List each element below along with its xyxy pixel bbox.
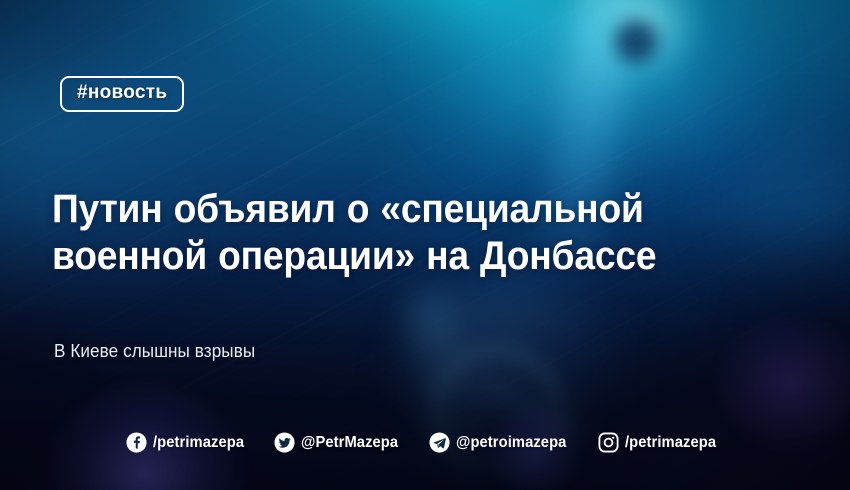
social-link-instagram[interactable]: /petrimazepa [598, 432, 724, 453]
facebook-icon [126, 432, 147, 453]
card-content: #новость Путин объявил о «специальной во… [0, 0, 850, 490]
instagram-icon [598, 432, 619, 453]
category-badge[interactable]: #новость [60, 76, 184, 112]
telegram-icon [429, 432, 450, 453]
social-handle-instagram: /petrimazepa [625, 434, 716, 452]
twitter-icon [274, 432, 295, 453]
category-badge-label: #новость [77, 82, 167, 104]
social-handle-telegram: @petroimazepa [456, 434, 566, 452]
page-title: Путин объявил о «специальной военной опе… [52, 186, 666, 280]
social-link-twitter[interactable]: @PetrMazepa [274, 432, 407, 453]
social-handle-facebook: /petrimazepa [153, 434, 244, 452]
social-links-bar: /petrimazepa @PetrMazepa @petroimazepa [0, 432, 850, 453]
social-link-facebook[interactable]: /petrimazepa [126, 432, 252, 453]
social-handle-twitter: @PetrMazepa [301, 434, 398, 452]
news-social-card: #новость Путин объявил о «специальной во… [0, 0, 850, 490]
subtitle: В Киеве слышны взрывы [54, 341, 255, 362]
social-link-telegram[interactable]: @petroimazepa [429, 432, 576, 453]
